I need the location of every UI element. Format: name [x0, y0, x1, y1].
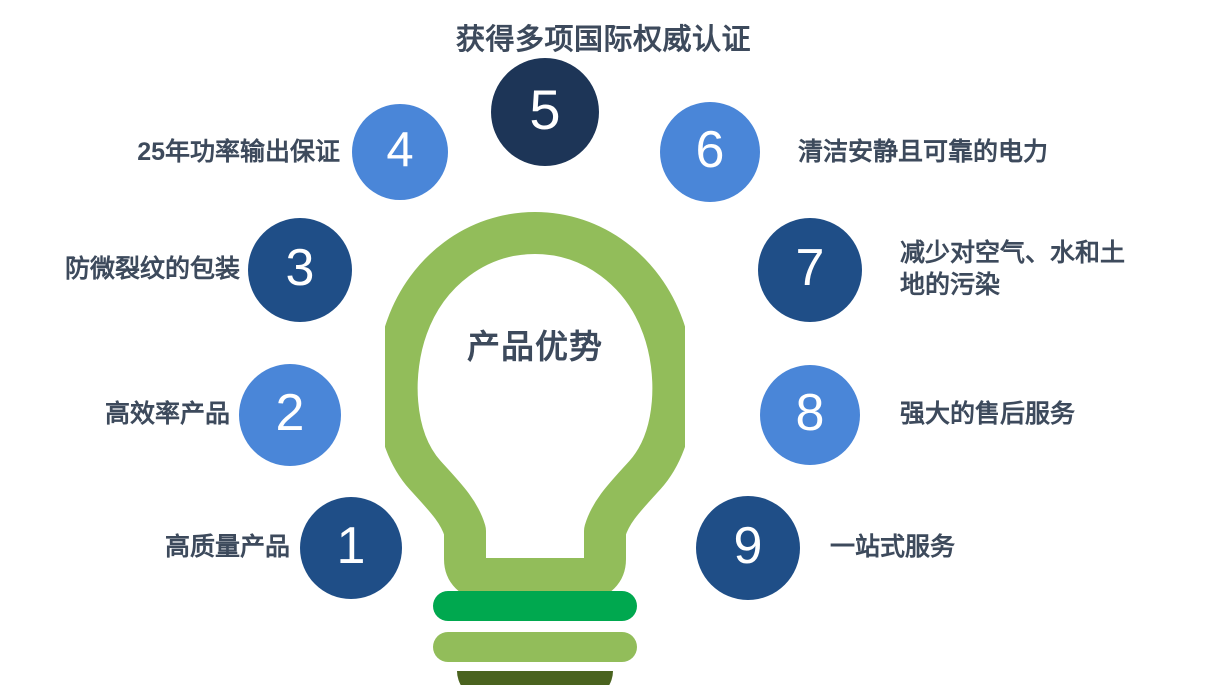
bulb-glass-outline [397, 233, 674, 579]
node-label-4: 25年功率输出保证 [60, 136, 340, 168]
bulb-stripe-bright [433, 591, 637, 621]
node-number-3: 3 [286, 242, 315, 294]
node-circle-4[interactable]: 4 [352, 104, 448, 200]
node-number-5: 5 [529, 82, 560, 138]
node-circle-6[interactable]: 6 [660, 102, 760, 202]
node-circle-8[interactable]: 8 [760, 365, 860, 465]
node-label-3: 防微裂纹的包装 [0, 253, 240, 285]
node-label-8: 强大的售后服务 [900, 398, 1180, 430]
node-label-2: 高效率产品 [0, 398, 230, 430]
node-label-7: 减少对空气、水和土 地的污染 [900, 237, 1207, 301]
node-number-4: 4 [386, 126, 413, 175]
node-number-6: 6 [696, 124, 725, 176]
node-label-1: 高质量产品 [60, 531, 290, 563]
node-circle-2[interactable]: 2 [239, 364, 341, 466]
center-caption: 产品优势 [385, 320, 685, 368]
node-circle-3[interactable]: 3 [248, 218, 352, 322]
lightbulb-icon [385, 175, 685, 685]
node-circle-1[interactable]: 1 [300, 497, 402, 599]
node-number-7: 7 [796, 242, 825, 294]
infographic-canvas: 获得多项国际权威认证 产品优势 1高质量产品2高效率产品3防微裂纹的包装425年… [0, 0, 1207, 685]
node-circle-5[interactable]: 5 [491, 58, 599, 166]
node-number-1: 1 [337, 520, 366, 572]
node-label-6: 清洁安静且可靠的电力 [798, 136, 1138, 168]
page-title: 获得多项国际权威认证 [0, 16, 1207, 58]
node-number-2: 2 [276, 387, 305, 439]
node-label-9: 一站式服务 [830, 531, 1090, 563]
node-number-9: 9 [734, 520, 763, 572]
bulb-base-cap [457, 671, 613, 685]
bulb-stripe-leaf [433, 632, 637, 662]
node-circle-7[interactable]: 7 [758, 218, 862, 322]
node-circle-9[interactable]: 9 [696, 496, 800, 600]
node-number-8: 8 [796, 387, 825, 439]
